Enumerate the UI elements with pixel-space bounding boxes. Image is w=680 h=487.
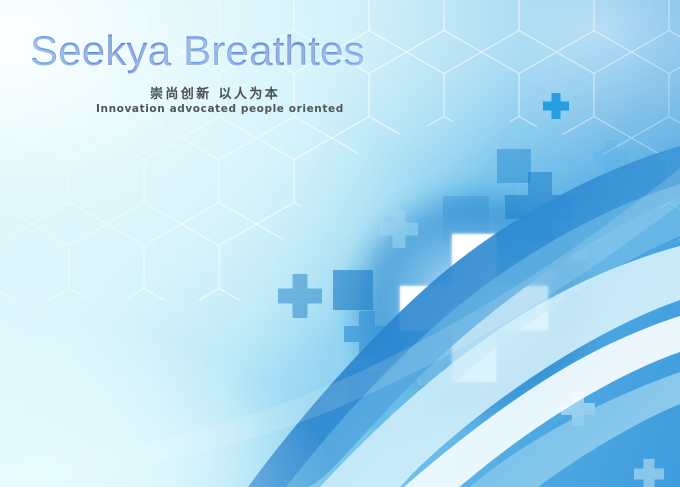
decorative-square [468, 373, 490, 395]
cross-icon [505, 172, 575, 242]
cross-icon [543, 93, 569, 119]
decorative-square [392, 377, 422, 407]
decorative-square [417, 359, 443, 385]
cross-icon [594, 140, 628, 174]
slogan-chinese: 崇尚创新 以人为本 [150, 83, 280, 102]
cross-icon [634, 459, 664, 487]
decorative-square [525, 293, 569, 337]
decorative-square [497, 149, 531, 183]
page-title: Seekya Breathtes [30, 28, 365, 74]
cross-icon [352, 371, 410, 429]
decorative-square [348, 371, 380, 403]
cross-icon [561, 392, 595, 426]
cross-icon [553, 207, 605, 259]
decorative-square [443, 196, 489, 242]
decorative-square [333, 270, 373, 310]
cross-icon [278, 274, 322, 318]
cross-icon [317, 389, 345, 417]
slogan-english: Innovation advocated people oriented [96, 103, 344, 115]
cross-icon [344, 311, 390, 357]
cross-icon [380, 210, 418, 248]
healthcare-banner: Seekya Breathtes 崇尚创新 以人为本 Innovation ad… [0, 0, 680, 487]
